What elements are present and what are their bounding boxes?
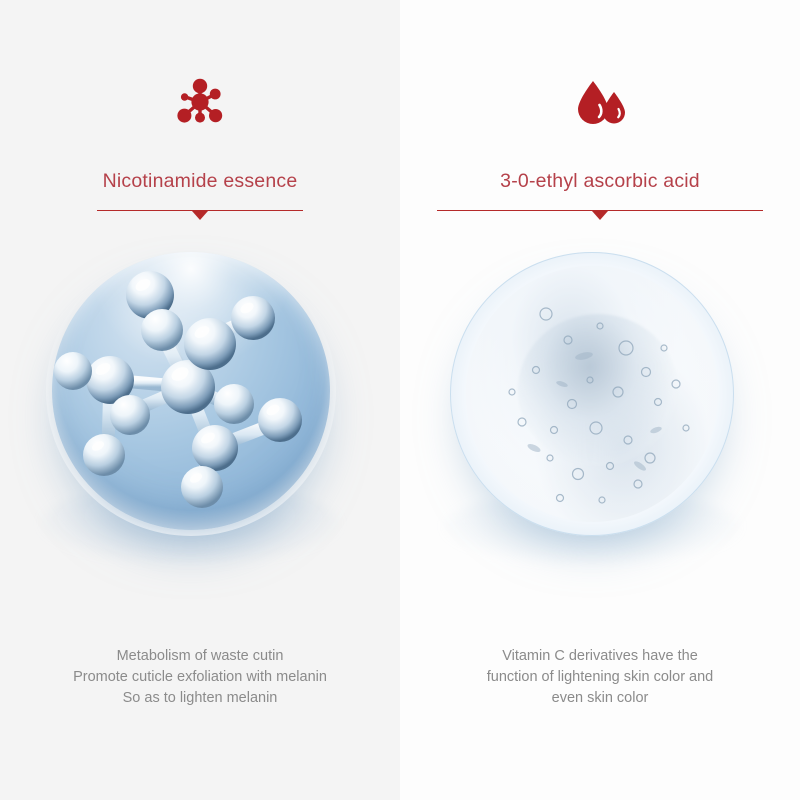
chevron-down-icon bbox=[592, 211, 608, 220]
gel-dish bbox=[450, 252, 734, 536]
molecule-icon bbox=[171, 72, 229, 134]
caption-line: function of lightening skin color and bbox=[426, 667, 774, 688]
caption-line: Promote cuticle exfoliation with melanin bbox=[26, 667, 374, 688]
page-title-nicotinamide: Nicotinamide essence bbox=[103, 170, 298, 193]
caption-line: even skin color bbox=[426, 688, 774, 709]
caption-nicotinamide: Metabolism of waste cutin Promote cuticl… bbox=[0, 646, 400, 709]
glass-molecule-model bbox=[52, 252, 330, 530]
divider-nicotinamide bbox=[97, 210, 303, 222]
droplets-icon bbox=[572, 72, 628, 134]
caption-line: So as to lighten melanin bbox=[26, 688, 374, 709]
page-title-ascorbic-acid: 3-0-ethyl ascorbic acid bbox=[500, 170, 700, 193]
caption-line: Metabolism of waste cutin bbox=[26, 646, 374, 667]
panel-ascorbic-acid: 3-0-ethyl ascorbic acid bbox=[400, 0, 800, 800]
clear-gel-dish-image bbox=[400, 234, 800, 614]
chevron-down-icon bbox=[192, 211, 208, 220]
caption-ascorbic-acid: Vitamin C derivatives have the function … bbox=[400, 646, 800, 709]
panel-nicotinamide: Nicotinamide essence bbox=[0, 0, 400, 800]
divider-ascorbic-acid bbox=[437, 210, 763, 222]
ingredient-comparison-board: Nicotinamide essence bbox=[0, 0, 800, 800]
gel-bubbles bbox=[450, 252, 734, 536]
caption-line: Vitamin C derivatives have the bbox=[426, 646, 774, 667]
blue-molecule-sphere-image bbox=[0, 234, 400, 614]
